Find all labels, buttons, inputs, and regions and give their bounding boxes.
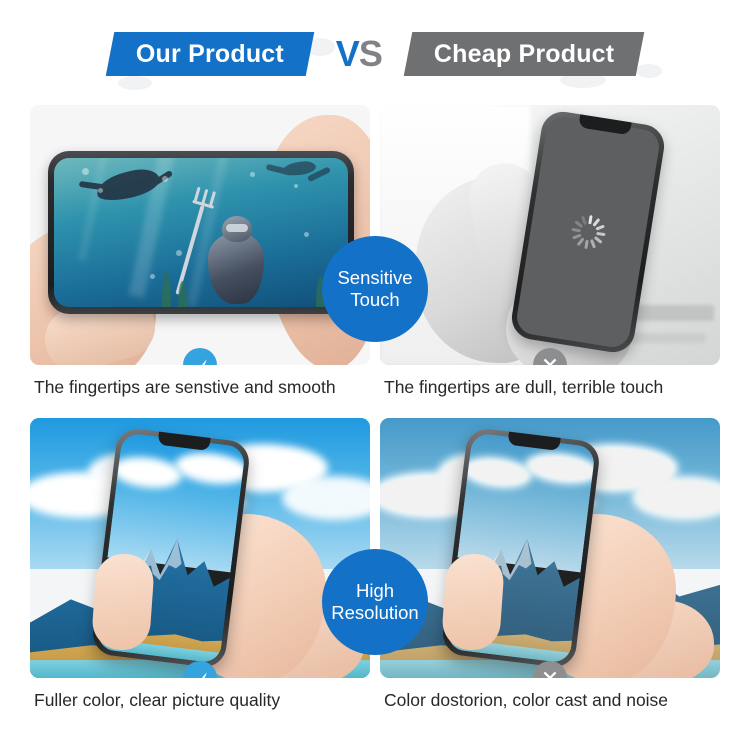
feature-badge-high-resolution: High Resolution [322,549,428,655]
finger-front [91,552,156,652]
vs-letter-s: S [359,33,382,74]
our-product-label: Our Product [136,40,284,69]
feature-label-line2: Resolution [331,602,418,624]
cheap-product-banner: Cheap Product [404,32,645,76]
comparison-infographic: Our Product VS Cheap Product [0,0,750,750]
phone-landscape [48,151,354,314]
photo-landscape-vivid [30,418,370,678]
diver-character [196,210,280,306]
caption-good-resolution: Fuller color, clear picture quality [34,690,370,711]
caption-good-touch: The fingertips are senstive and smooth [34,377,370,398]
our-product-banner: Our Product [105,32,314,76]
vs-label: VS [336,36,382,72]
caption-bad-resolution: Color dostorion, color cast and noise [384,690,720,711]
loading-spinner-icon [569,213,608,252]
feature-label-line1: High [356,580,394,602]
feature-badge-sensitive-touch: Sensitive Touch [322,236,428,342]
finger-front [441,552,506,652]
cell-sensitive-touch-good: The fingertips are senstive and smooth [30,105,370,365]
photo-landscape-dull [380,418,720,678]
header: Our Product VS Cheap Product [0,28,750,80]
caption-bad-touch: The fingertips are dull, terrible touch [384,377,720,398]
cell-high-resolution-good: Fuller color, clear picture quality [30,418,370,678]
cheap-product-label: Cheap Product [434,40,614,69]
cell-sensitive-touch-bad: The fingertips are dull, terrible touch [380,105,720,365]
cell-high-resolution-bad: Color dostorion, color cast and noise [380,418,720,678]
comparison-grid: The fingertips are senstive and smooth [30,105,720,723]
photo-game-landscape-phone [30,105,370,365]
photo-loading-phone-grayscale [380,105,720,365]
vs-letter-v: V [336,33,359,74]
feature-label-line2: Touch [350,289,399,311]
phone-screen-game [54,158,348,307]
feature-label-line1: Sensitive [337,267,412,289]
